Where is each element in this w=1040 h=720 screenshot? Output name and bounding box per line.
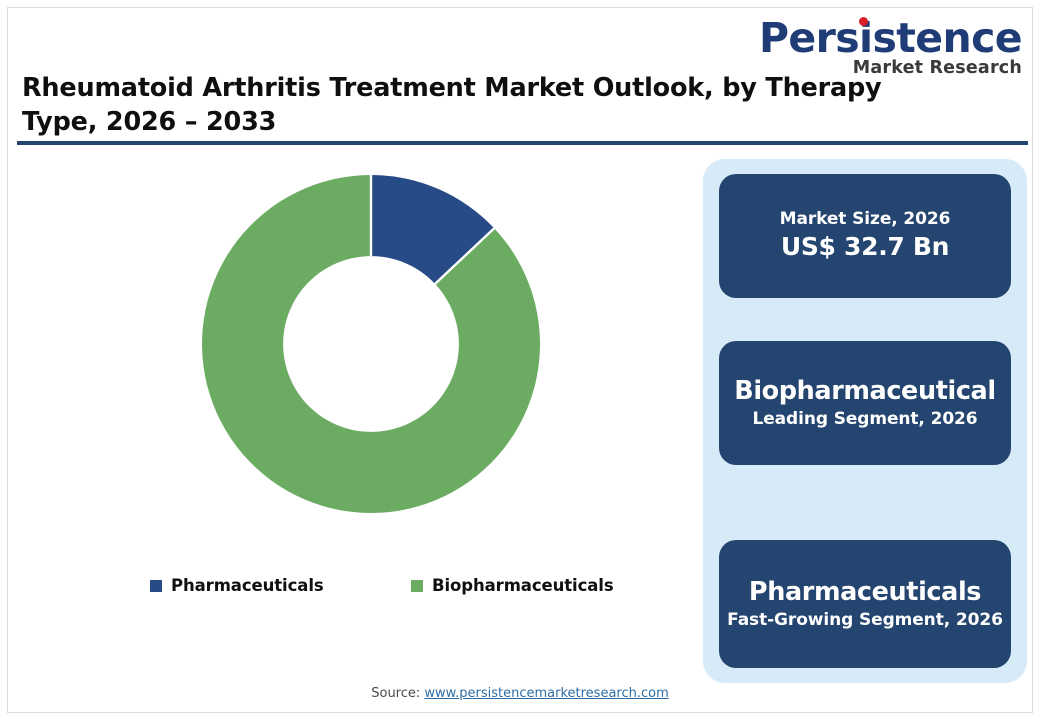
stat-card-market-size-label: Market Size, 2026 — [780, 209, 951, 230]
source-line: Source: www.persistencemarketresearch.co… — [0, 686, 1040, 701]
stat-card-market-size-value: US$ 32.7 Bn — [781, 232, 949, 263]
chart-legend: Pharmaceuticals Biopharmaceuticals — [130, 576, 650, 606]
brand-logo-wordmark: Persistence — [759, 18, 1022, 59]
legend-item-biopharmaceuticals[interactable]: Biopharmaceuticals — [411, 576, 614, 595]
asterisk-dot-icon — [859, 17, 868, 26]
stat-card-market-size[interactable]: Market Size, 2026 US$ 32.7 Bn — [719, 174, 1011, 298]
highlights-panel: Market Size, 2026 US$ 32.7 Bn Biopharmac… — [703, 159, 1027, 683]
donut-chart — [202, 175, 540, 513]
infographic-canvas: Persistence Market Research Rheumatoid A… — [0, 0, 1040, 720]
source-prefix: Source: — [371, 686, 424, 701]
stat-card-leading-segment-value: Biopharmaceutical — [734, 376, 995, 407]
legend-swatch-biopharmaceuticals — [411, 580, 423, 592]
legend-label-biopharmaceuticals: Biopharmaceuticals — [432, 576, 614, 595]
page-title: Rheumatoid Arthritis Treatment Market Ou… — [22, 72, 922, 139]
legend-label-pharmaceuticals: Pharmaceuticals — [171, 576, 324, 595]
page-title-wrap: Rheumatoid Arthritis Treatment Market Ou… — [22, 72, 922, 139]
stat-card-leading-segment[interactable]: Biopharmaceutical Leading Segment, 2026 — [719, 341, 1011, 465]
brand-logo-text: Persistence — [759, 14, 1022, 62]
stat-card-fast-growing-segment[interactable]: Pharmaceuticals Fast-Growing Segment, 20… — [719, 540, 1011, 668]
stat-card-leading-segment-label: Leading Segment, 2026 — [752, 409, 977, 430]
legend-item-pharmaceuticals[interactable]: Pharmaceuticals — [150, 576, 324, 595]
source-link[interactable]: www.persistencemarketresearch.com — [424, 686, 668, 701]
stat-card-fast-growing-segment-value: Pharmaceuticals — [749, 577, 981, 608]
stat-card-fast-growing-segment-label: Fast-Growing Segment, 2026 — [727, 610, 1003, 631]
legend-swatch-pharmaceuticals — [150, 580, 162, 592]
title-underline-divider — [17, 141, 1028, 145]
brand-logo[interactable]: Persistence Market Research — [759, 18, 1022, 78]
chart-area: Pharmaceuticals Biopharmaceuticals — [20, 160, 680, 630]
